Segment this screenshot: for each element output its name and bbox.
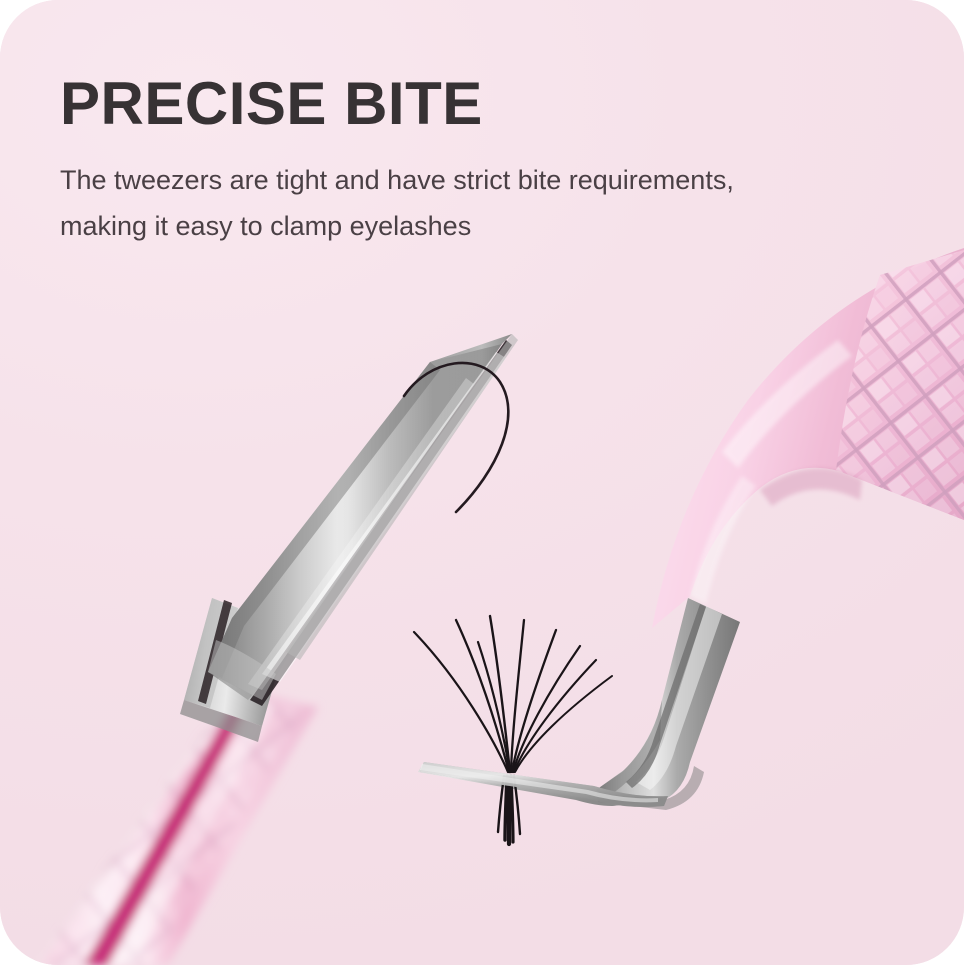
left-tweezer bbox=[20, 334, 518, 965]
text-block: PRECISE BITE The tweezers are tight and … bbox=[60, 72, 860, 250]
lash-fan bbox=[414, 616, 612, 844]
subtitle: The tweezers are tight and have strict b… bbox=[60, 157, 800, 250]
product-feature-card: PRECISE BITE The tweezers are tight and … bbox=[0, 0, 964, 965]
subtitle-line-1: The tweezers are tight and have strict b… bbox=[60, 165, 734, 195]
subtitle-line-2: making it easy to clamp eyelashes bbox=[60, 211, 471, 241]
page-title: PRECISE BITE bbox=[60, 72, 860, 135]
